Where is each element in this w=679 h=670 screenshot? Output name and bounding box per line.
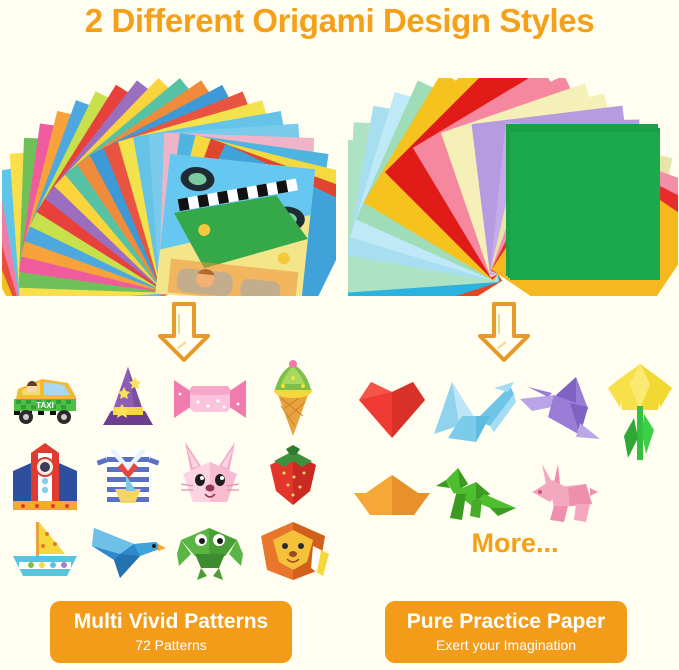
solid-paper-fan xyxy=(348,78,678,296)
origami-figure-lion xyxy=(252,513,335,588)
solid-origami-figures xyxy=(352,358,678,518)
origami-figure-dinosaur xyxy=(432,462,518,528)
figure-slot-empty xyxy=(602,462,678,528)
origami-figure-strawberry xyxy=(252,438,335,513)
page-title: 2 Different Origami Design Styles xyxy=(0,2,679,40)
more-label: More... xyxy=(352,528,678,559)
origami-figure-frog xyxy=(169,513,252,588)
svg-text:TAXI: TAXI xyxy=(36,401,54,410)
origami-figure-heart xyxy=(352,358,432,462)
down-arrow-icon-left xyxy=(152,300,216,364)
patterned-paper-fan xyxy=(2,78,336,296)
origami-figure-sailor-shirt xyxy=(87,438,170,513)
banner-right-title: Pure Practice Paper xyxy=(407,610,605,634)
banner-left-title: Multi Vivid Patterns xyxy=(74,610,269,634)
patterned-origami-figures: TAXI xyxy=(4,358,334,588)
origami-figure-tulip xyxy=(602,358,678,462)
origami-figure-taxi-car: TAXI xyxy=(4,358,87,438)
origami-figure-witch-hat xyxy=(87,358,170,438)
origami-figure-bunny-face xyxy=(169,438,252,513)
origami-figure-sailboat xyxy=(4,513,87,588)
banner-pure-practice-paper: Pure Practice Paper Exert your Imaginati… xyxy=(385,601,627,663)
origami-figure-candy xyxy=(169,358,252,438)
origami-figure-rocket xyxy=(4,438,87,513)
origami-figure-ice-cream-cone xyxy=(252,358,335,438)
banner-left-subtitle: 72 Patterns xyxy=(135,636,207,654)
down-arrow-icon-right xyxy=(472,300,536,364)
origami-figure-blue-bird xyxy=(87,513,170,588)
origami-figure-hummingbird xyxy=(518,358,602,462)
origami-figure-paper-boat xyxy=(352,462,432,528)
banner-right-subtitle: Exert your Imagination xyxy=(436,636,576,654)
origami-figure-paper-crane xyxy=(432,358,518,462)
origami-figure-rabbit xyxy=(518,462,602,528)
banner-multi-vivid-patterns: Multi Vivid Patterns 72 Patterns xyxy=(50,601,292,663)
product-infographic: 2 Different Origami Design Styles xyxy=(0,0,679,670)
